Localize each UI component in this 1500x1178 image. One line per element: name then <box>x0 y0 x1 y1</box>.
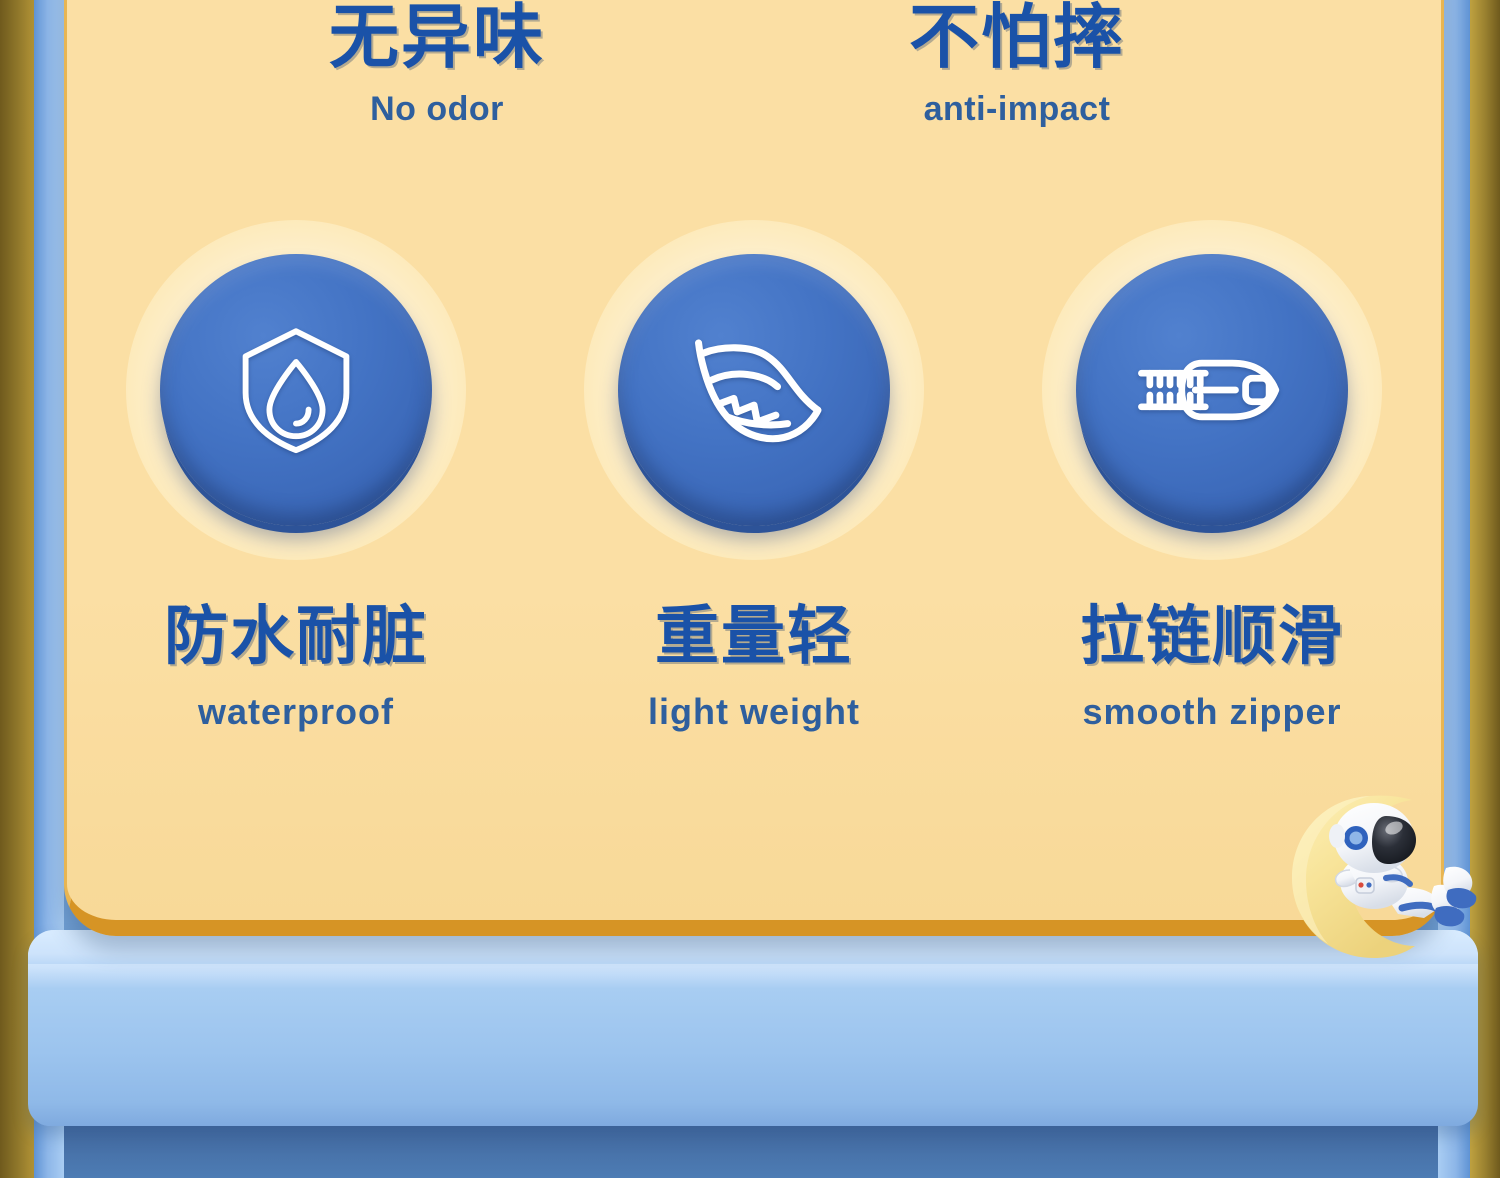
feature-smooth-zipper: 拉链顺滑 smooth zipper <box>1002 220 1422 730</box>
icon-halo <box>126 220 466 560</box>
feature-row: 防水耐脏 waterproof 重量轻 <box>67 220 1441 730</box>
feature-light-weight: 重量轻 light weight <box>544 220 964 730</box>
feature-title-en: waterproof <box>86 694 506 730</box>
top-feature-anti-impact: 不怕摔 anti-impact <box>857 2 1177 126</box>
top-feature-no-odor: 无异味 No odor <box>277 2 597 126</box>
icon-halo <box>584 220 924 560</box>
yellow-feature-card: 无异味 No odor 不怕摔 anti-impact <box>64 0 1444 936</box>
feature-title-en: light weight <box>544 694 964 730</box>
feature-title-cn: 防水耐脏 <box>86 604 506 668</box>
icon-disc <box>1076 254 1348 526</box>
top-feature-title-en: anti-impact <box>857 92 1177 126</box>
zipper-icon <box>1128 306 1296 474</box>
top-feature-title-cn: 不怕摔 <box>857 2 1177 72</box>
feature-card-screenshot: 无异味 No odor 不怕摔 anti-impact <box>0 0 1500 1178</box>
blue-tray-shelf <box>28 930 1478 1126</box>
top-feature-title-cn: 无异味 <box>277 2 597 72</box>
feature-title-en: smooth zipper <box>1002 694 1422 730</box>
feature-waterproof: 防水耐脏 waterproof <box>86 220 506 730</box>
feather-icon <box>670 306 838 474</box>
background-bottom-band <box>0 1126 1500 1178</box>
top-feature-row: 无异味 No odor 不怕摔 anti-impact <box>67 2 1441 202</box>
top-feature-title-en: No odor <box>277 92 597 126</box>
icon-disc <box>618 254 890 526</box>
icon-disc <box>160 254 432 526</box>
shield-droplet-icon <box>226 320 366 460</box>
icon-halo <box>1042 220 1382 560</box>
feature-title-cn: 拉链顺滑 <box>1002 604 1422 668</box>
feature-title-cn: 重量轻 <box>544 604 964 668</box>
